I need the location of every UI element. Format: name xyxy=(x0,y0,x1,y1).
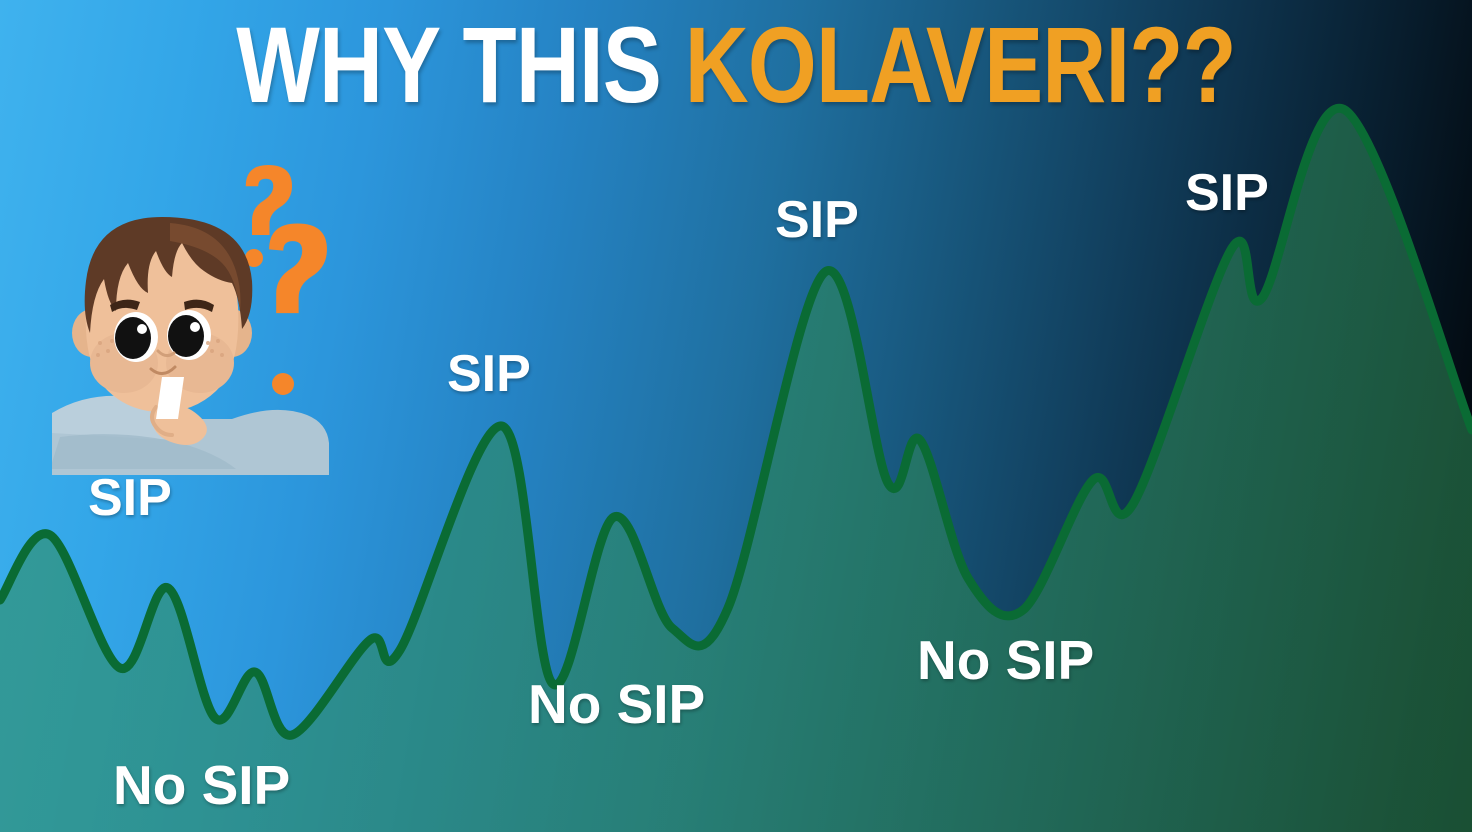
chart-label-sip-2: SIP xyxy=(447,344,531,404)
thinking-boy-illustration xyxy=(52,155,352,475)
question-mark-icon-small xyxy=(245,165,292,267)
eye-left xyxy=(114,312,158,362)
chart-label-nosip-1: No SIP xyxy=(113,753,290,817)
page-title: WHY THIS KOLAVERI?? xyxy=(132,8,1339,121)
chart-label-sip-1: SIP xyxy=(88,468,172,528)
title-part-accent: KOLAVERI?? xyxy=(685,4,1236,125)
chart-label-sip-3: SIP xyxy=(775,190,859,250)
question-mark-icon-large xyxy=(269,223,327,395)
title-part-white: WHY THIS xyxy=(236,4,685,125)
chart-label-sip-4: SIP xyxy=(1185,163,1269,223)
poster-canvas: WHY THIS KOLAVERI?? xyxy=(0,0,1472,832)
chart-label-nosip-2: No SIP xyxy=(528,672,705,736)
chart-label-nosip-3: No SIP xyxy=(917,628,1094,692)
